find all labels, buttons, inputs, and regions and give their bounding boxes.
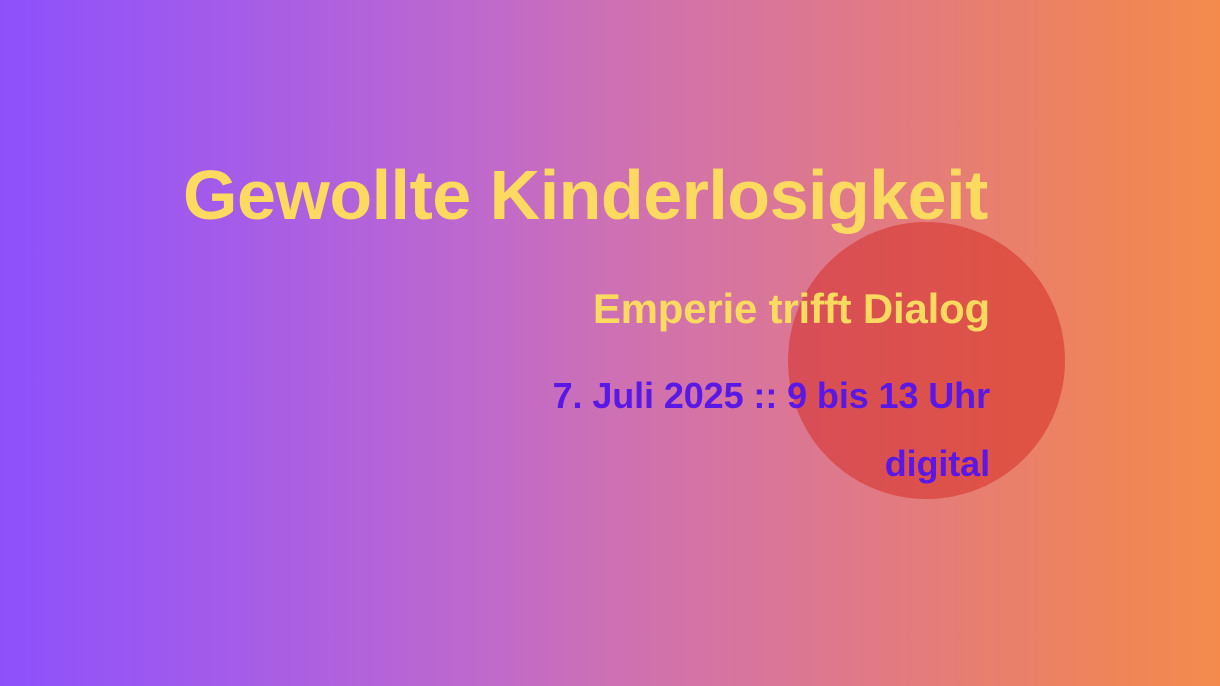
- poster-content: Gewollte Kinderlosigkeit Emperie trifft …: [0, 0, 1220, 686]
- poster-subtitle: Emperie trifft Dialog: [593, 288, 990, 330]
- event-poster: Gewollte Kinderlosigkeit Emperie trifft …: [0, 0, 1220, 686]
- event-datetime: 7. Juli 2025 :: 9 bis 13 Uhr: [553, 378, 990, 414]
- poster-headline: Gewollte Kinderlosigkeit: [183, 160, 993, 230]
- event-location: digital: [885, 446, 990, 482]
